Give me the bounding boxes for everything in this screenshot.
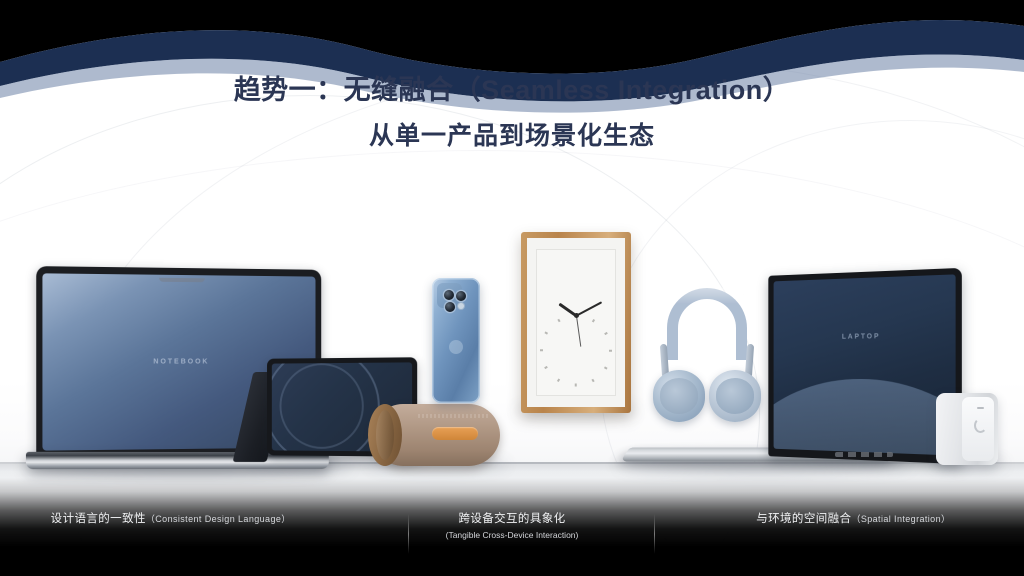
camera-module: [437, 283, 462, 308]
laptop-right: LAPTOP: [768, 268, 962, 464]
laptop-right-ports: [835, 452, 893, 457]
webcam-notch: [159, 278, 205, 283]
smart-speaker-indicator: [977, 407, 984, 409]
smart-speaker-logo-icon: [974, 418, 987, 433]
caption-3-en: （Spatial Integration）: [851, 514, 950, 524]
headphone-earcup: [709, 370, 761, 422]
caption-item-1: 设计语言的一致性（Consistent Design Language）: [0, 510, 341, 566]
headphone-headband: [667, 288, 747, 360]
clock-mat: [527, 238, 625, 407]
clock-center-pin: [574, 313, 579, 318]
clock-second-hand: [576, 316, 581, 347]
clock-minute-hand: [575, 301, 602, 317]
camera-lens-icon: [444, 290, 454, 300]
caption-1-en: （Consistent Design Language）: [146, 514, 291, 524]
laptop-left-screen-logo: NOTEBOOK: [153, 358, 209, 365]
tablet-screen-arc: [280, 363, 364, 449]
caption-item-3: 与环境的空间融合（Spatial Integration）: [683, 510, 1024, 566]
laptop-right-screen: LAPTOP: [774, 274, 956, 455]
title-line-2: 从单一产品到场景化生态: [0, 116, 1024, 152]
caption-bar: 设计语言的一致性（Consistent Design Language） 跨设备…: [0, 510, 1024, 566]
caption-3-zh: 与环境的空间融合: [756, 513, 851, 525]
caption-2-zh: 跨设备交互的具象化: [458, 513, 565, 525]
camera-lens-icon: [456, 291, 466, 301]
camera-lens-icon: [445, 302, 455, 312]
caption-3-text: 与环境的空间融合（Spatial Integration）: [683, 510, 1024, 526]
caption-2-text: 跨设备交互的具象化: [341, 510, 682, 526]
title-line-1: 趋势一：无缝融合（Seamless Integration）: [0, 74, 1024, 108]
headphone-earcup: [653, 370, 705, 422]
speaker-grill: [418, 414, 488, 418]
headphone-earpad: [660, 378, 698, 414]
presentation-slide: 趋势一：无缝融合（Seamless Integration） 从单一产品到场景化…: [0, 0, 1024, 576]
clock-face: [538, 278, 614, 354]
smart-speaker: [936, 393, 998, 465]
caption-2-en: (Tangible Cross-Device Interaction): [341, 530, 682, 540]
caption-item-2: 跨设备交互的具象化 (Tangible Cross-Device Interac…: [341, 510, 682, 566]
headphone-earpad: [716, 378, 754, 414]
phone-back-logo: [449, 340, 463, 354]
framed-clock: [521, 232, 631, 413]
speaker-accent-strip: [432, 427, 478, 440]
caption-1-text: 设计语言的一致性（Consistent Design Language）: [0, 510, 341, 526]
laptop-right-screen-arc: [774, 378, 956, 455]
caption-1-zh: 设计语言的一致性: [51, 513, 146, 525]
over-ear-headphones: [655, 288, 759, 423]
slide-title: 趋势一：无缝融合（Seamless Integration） 从单一产品到场景化…: [0, 74, 1024, 152]
smartphone: [432, 278, 480, 403]
laptop-right-screen-logo: LAPTOP: [842, 333, 881, 340]
speaker-wood-cap: [368, 404, 402, 466]
flash-icon: [458, 303, 464, 309]
